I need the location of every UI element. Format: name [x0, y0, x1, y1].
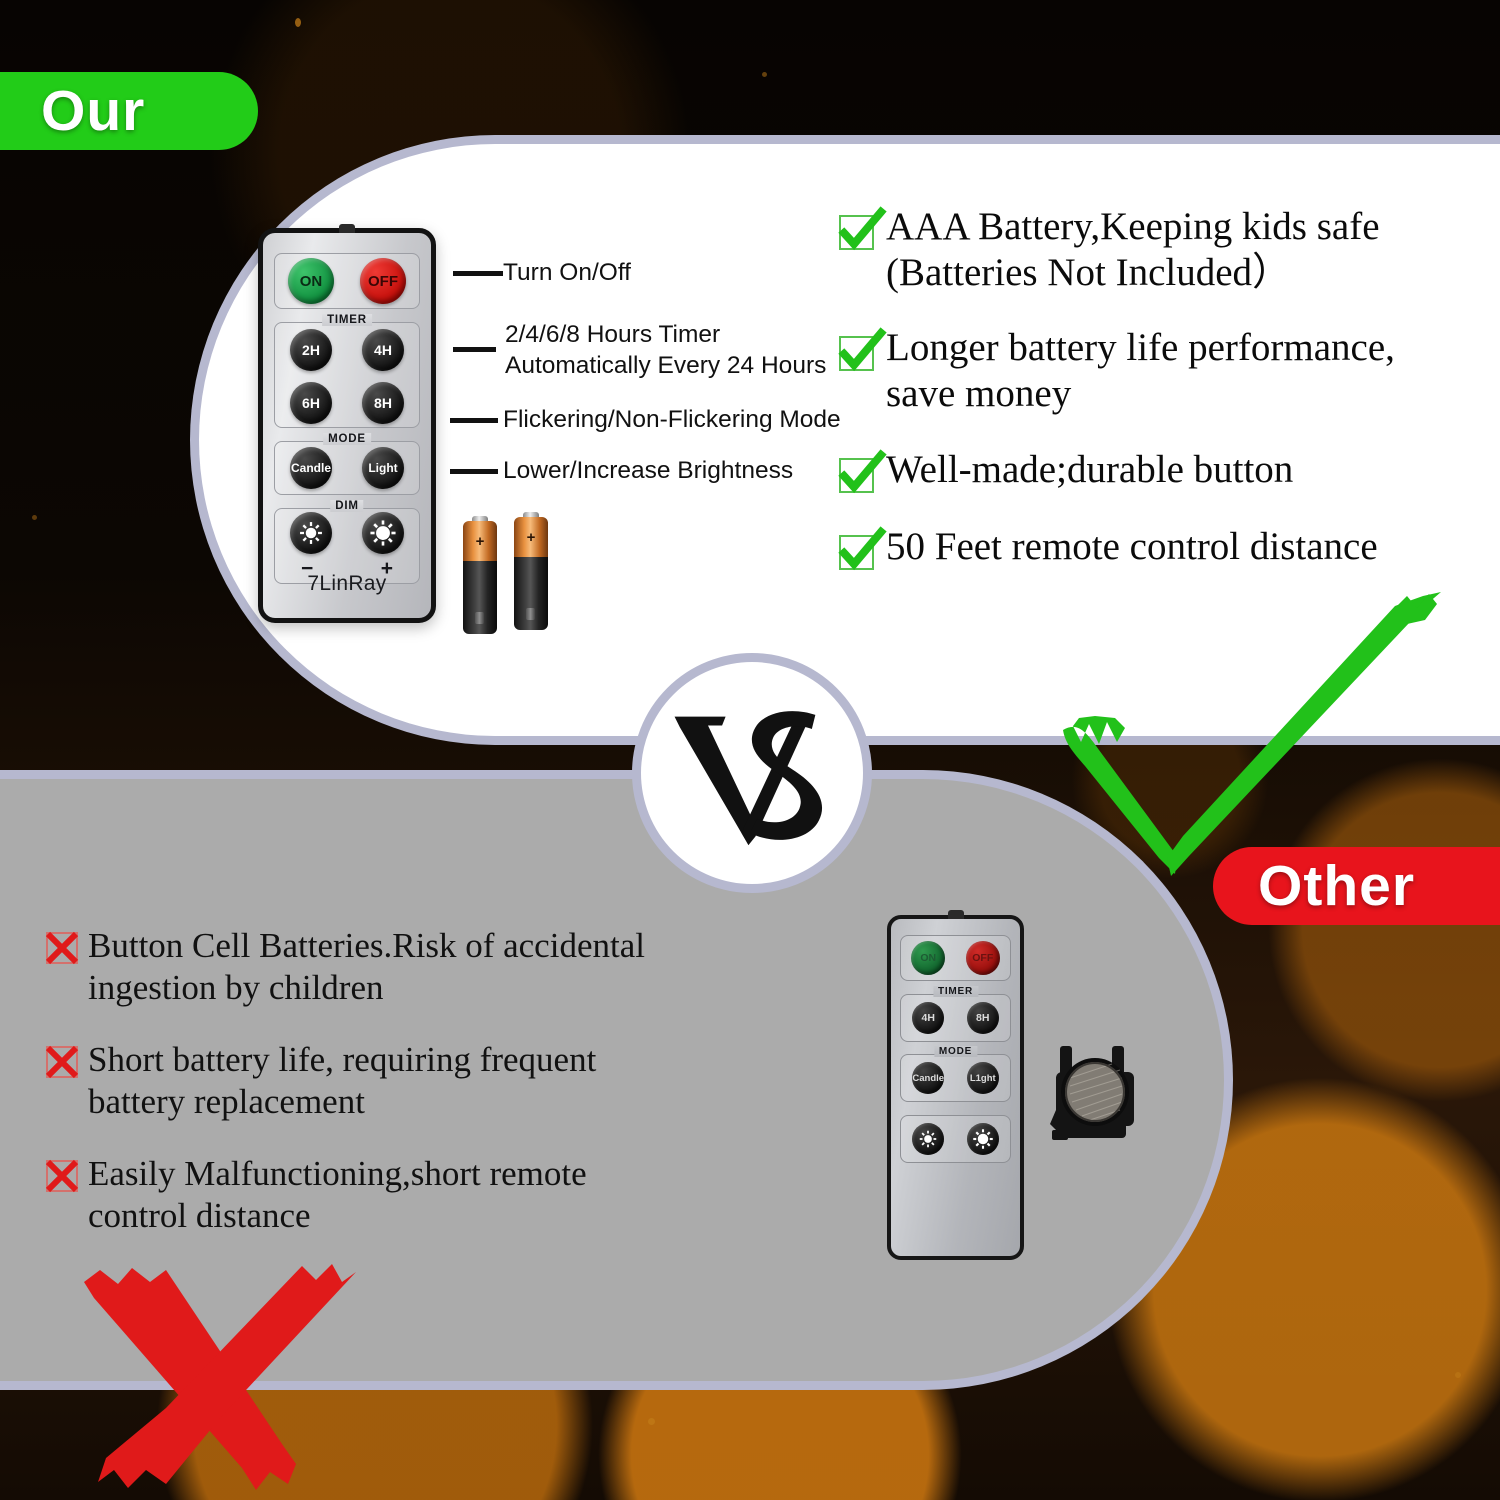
battery-positive-label: +: [463, 521, 497, 561]
leader-line-mode: [450, 418, 498, 423]
vs-logo-icon: [664, 685, 840, 861]
big-check-icon: [1055, 590, 1445, 880]
battery-positive-label: +: [514, 517, 548, 557]
other-off-button[interactable]: OFF: [966, 941, 1000, 975]
battery-body: [463, 561, 497, 634]
pros-item: AAA Battery,Keeping kids safe (Batteries…: [838, 204, 1498, 295]
timer-group: TIMER 2H 4H 6H 8H: [274, 322, 420, 428]
sun-large-icon: [368, 518, 398, 548]
ir-emitter: [948, 910, 964, 919]
off-button[interactable]: OFF: [360, 258, 406, 304]
cons-item: Easily Malfunctioning,short remote contr…: [45, 1153, 785, 1237]
badge-our: Our: [0, 72, 258, 150]
sun-small-icon: [297, 519, 325, 547]
pros-item: 50 Feet remote control distance: [838, 524, 1498, 571]
coin-cell-battery: [1050, 1038, 1146, 1156]
pros-list: AAA Battery,Keeping kids safe (Batteries…: [838, 204, 1498, 601]
pros-item: Longer battery life performance, save mo…: [838, 325, 1498, 416]
other-timer-group: TIMER 4H 8H: [900, 994, 1011, 1042]
leader-line-power: [453, 271, 503, 276]
our-remote-control: ON OFF TIMER 2H 4H 6H 8H MODE Candle Lig…: [258, 228, 436, 623]
pros-item-text: Longer battery life performance, save mo…: [886, 325, 1395, 416]
pros-item-text: 50 Feet remote control distance: [886, 524, 1378, 570]
badge-our-label: Our: [41, 78, 145, 144]
callout-timer: 2/4/6/8 Hours Timer Automatically Every …: [505, 320, 826, 382]
power-group: ON OFF: [274, 253, 420, 309]
ir-emitter: [339, 224, 355, 233]
bokeh-speck: [762, 72, 767, 77]
timer-8h-button[interactable]: 8H: [362, 382, 404, 424]
aaa-battery: +: [514, 512, 548, 630]
cons-list: Button Cell Batteries.Risk of accidental…: [45, 925, 785, 1267]
cons-item: Button Cell Batteries.Risk of accidental…: [45, 925, 785, 1009]
aaa-battery: +: [463, 516, 497, 634]
other-dim-up-button[interactable]: [967, 1123, 999, 1155]
other-mode-candle-button[interactable]: Candle: [912, 1062, 944, 1094]
other-mode-light-button[interactable]: L1ght: [967, 1062, 999, 1094]
other-timer-4h-button[interactable]: 4H: [912, 1002, 944, 1034]
mode-group-label: MODE: [323, 433, 371, 445]
other-timer-group-label: TIMER: [933, 986, 978, 997]
bokeh-speck: [295, 18, 301, 27]
other-dim-down-button[interactable]: [912, 1123, 944, 1155]
callout-mode: Flickering/Non-Flickering Mode: [503, 405, 841, 436]
pros-item-text: AAA Battery,Keeping kids safe (Batteries…: [886, 204, 1380, 295]
leader-line-dim: [450, 469, 498, 474]
check-icon: [838, 531, 878, 571]
other-remote-control: ON OFF TIMER 4H 8H MODE Candle L1ght: [887, 915, 1024, 1260]
other-dim-group: [900, 1115, 1011, 1163]
other-power-group: ON OFF: [900, 935, 1011, 981]
cons-item-text: Button Cell Batteries.Risk of accidental…: [88, 925, 645, 1009]
brand-label: 7LinRay: [263, 572, 431, 596]
sun-large-icon: [971, 1127, 995, 1151]
other-mode-group-label: MODE: [934, 1046, 977, 1057]
check-icon: [838, 454, 878, 494]
timer-2h-button[interactable]: 2H: [290, 329, 332, 371]
other-on-button[interactable]: ON: [911, 941, 945, 975]
leader-line-timer: [453, 347, 496, 352]
bokeh-speck: [32, 515, 37, 520]
cross-icon: [45, 931, 79, 965]
dim-down-button[interactable]: [290, 512, 332, 554]
battery-body: [514, 557, 548, 630]
infographic-canvas: Our ON OFF TIMER 2H 4H 6H 8H MODE Candle: [0, 0, 1500, 1500]
timer-4h-button[interactable]: 4H: [362, 329, 404, 371]
bokeh-speck: [1455, 1372, 1461, 1378]
timer-6h-button[interactable]: 6H: [290, 382, 332, 424]
callout-power: Turn On/Off: [503, 258, 631, 289]
check-icon: [838, 332, 878, 372]
cons-item-text: Easily Malfunctioning,short remote contr…: [88, 1153, 587, 1237]
vs-badge: [632, 653, 872, 893]
big-cross-icon: [70, 1258, 370, 1500]
mode-candle-button[interactable]: Candle: [290, 447, 332, 489]
other-timer-8h-button[interactable]: 8H: [967, 1002, 999, 1034]
cross-icon: [45, 1159, 79, 1193]
cons-item-text: Short battery life, requiring frequent b…: [88, 1039, 596, 1123]
mode-group: MODE Candle Light: [274, 441, 420, 495]
other-mode-group: MODE Candle L1ght: [900, 1054, 1011, 1102]
callout-dim: Lower/Increase Brightness: [503, 456, 793, 487]
mode-light-button[interactable]: Light: [362, 447, 404, 489]
cross-icon: [45, 1045, 79, 1079]
bokeh-speck: [648, 1418, 655, 1425]
pros-item-text: Well-made;durable button: [886, 447, 1293, 493]
dim-up-button[interactable]: [362, 512, 404, 554]
timer-group-label: TIMER: [322, 314, 372, 326]
sun-small-icon: [917, 1128, 939, 1150]
on-button[interactable]: ON: [288, 258, 334, 304]
check-icon: [838, 211, 878, 251]
cons-item: Short battery life, requiring frequent b…: [45, 1039, 785, 1123]
pros-item: Well-made;durable button: [838, 447, 1498, 494]
dim-group-label: DIM: [330, 500, 363, 512]
